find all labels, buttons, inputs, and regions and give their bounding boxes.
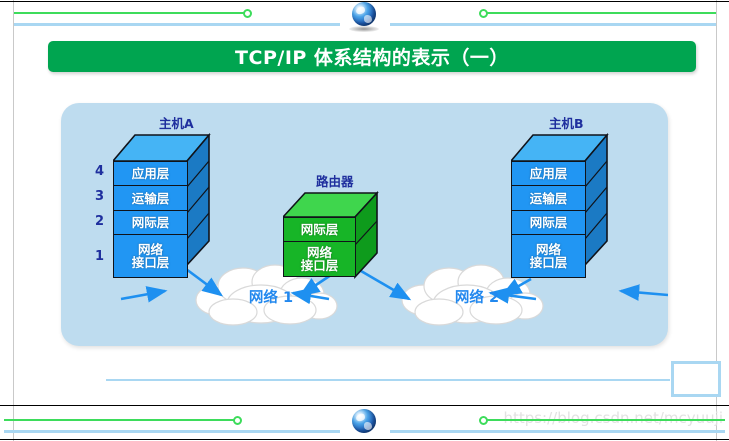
host-a-number-2: 2	[86, 215, 104, 228]
deco-line-top-left	[14, 12, 246, 14]
watermark-text: https://blog.csdn.net/mcyuuji	[503, 409, 723, 427]
router-stack: 网际层 网络 接口层	[283, 191, 379, 281]
globe-icon-top	[349, 2, 379, 32]
frame-outer-bottom-edge	[0, 439, 729, 440]
slide-canvas: TCP/IP 体系结构的表示（一）	[0, 0, 729, 441]
footer-placeholder-box	[671, 361, 721, 397]
deco-blue-line-top-left	[14, 23, 340, 26]
cloud-label-network-2: 网络 2	[417, 286, 537, 307]
deco-line-bottom-right	[486, 419, 725, 421]
host-a-label: 主机A	[159, 113, 194, 132]
diagram-panel: 网络 1 网络 2 主机A 4 3 2 1 应用层 运输层 网际层	[61, 103, 668, 346]
frame-bottom-edge	[0, 405, 729, 406]
host-b-layer-internet: 网际层	[511, 210, 586, 236]
router-layer-network-interface-line2: 接口层	[301, 259, 339, 272]
host-b-layer-list: 应用层 运输层 网际层 网络 接口层	[511, 161, 586, 278]
host-b-layer-transport: 运输层	[511, 185, 586, 211]
router-label: 路由器	[316, 171, 354, 190]
deco-line-bottom-left	[4, 419, 236, 421]
host-a-number-3: 3	[86, 190, 104, 203]
deco-line-top-right	[486, 12, 716, 14]
host-a-layer-network-interface: 网络 接口层	[113, 234, 188, 278]
arrow-net2-inbound-right	[621, 291, 668, 295]
circle-node-icon-bottom-left	[233, 416, 242, 425]
host-b-stack: 应用层 运输层 网际层 网络 接口层	[511, 131, 609, 269]
deco-blue-line-top-right	[390, 23, 716, 26]
host-a-layer-application: 应用层	[113, 161, 188, 187]
host-a-layer-network-interface-line2: 接口层	[132, 256, 170, 269]
host-a-layer-numbers: 4 3 2 1	[86, 165, 104, 263]
deco-blue-line-bottom-right	[390, 430, 725, 433]
router-layer-list: 网际层 网络 接口层	[283, 217, 356, 277]
host-b-layer-network-interface-line2: 接口层	[530, 256, 568, 269]
host-a-layer-internet: 网际层	[113, 210, 188, 236]
cloud-label-network-1: 网络 1	[211, 286, 331, 307]
host-a-stack: 应用层 运输层 网际层 网络 接口层	[113, 131, 211, 269]
circle-node-icon-top-left	[243, 9, 252, 18]
host-a-layer-transport: 运输层	[113, 185, 188, 211]
slide-title-banner: TCP/IP 体系结构的表示（一）	[48, 41, 696, 72]
globe-icon-sphere	[352, 2, 376, 26]
host-b-label: 主机B	[549, 113, 584, 132]
footer-divider	[106, 379, 670, 381]
globe-icon-bottom-sphere	[352, 409, 376, 433]
page-title: TCP/IP 体系结构的表示（一）	[235, 43, 509, 70]
router-layer-internet: 网际层	[283, 217, 356, 243]
circle-node-icon-bottom-right	[479, 416, 488, 425]
router-layer-network-interface: 网络 接口层	[283, 241, 356, 277]
host-a-number-4: 4	[86, 165, 104, 178]
host-b-layer-network-interface: 网络 接口层	[511, 234, 586, 278]
arrow-net1-inbound-left	[121, 291, 165, 299]
host-a-number-1: 1	[86, 250, 104, 263]
frame-left-edge	[13, 0, 14, 441]
host-a-layer-list: 应用层 运输层 网际层 网络 接口层	[113, 161, 188, 278]
globe-icon-bottom	[349, 409, 379, 439]
circle-node-icon-top-right	[479, 9, 488, 18]
globe-icon-shadow	[349, 26, 379, 32]
deco-blue-line-bottom-left	[4, 430, 340, 433]
host-b-layer-application: 应用层	[511, 161, 586, 187]
